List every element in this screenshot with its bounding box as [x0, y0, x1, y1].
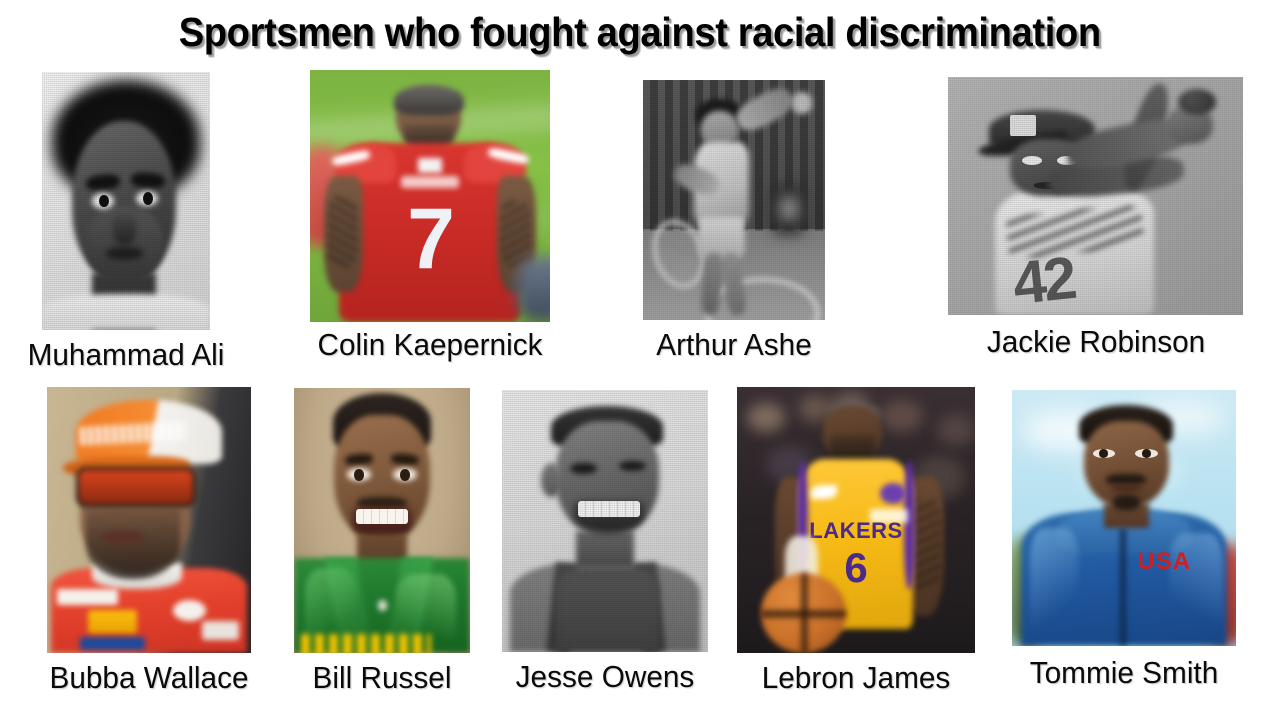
caption-arthur-ashe: Arthur Ashe [656, 328, 812, 362]
beard-shape [86, 509, 180, 578]
caption-colin-kaepernick: Colin Kaepernick [318, 328, 543, 362]
jacket-zipper [1120, 528, 1127, 646]
lebron-james-photo: LAKERS 6 [737, 387, 975, 653]
person-card-jackie-robinson: 42 Jackie Robinson [948, 77, 1243, 377]
film-grain-overlay [643, 80, 825, 320]
jacket-button [378, 600, 387, 611]
sunglasses [76, 467, 196, 508]
jesse-owens-photo [502, 390, 708, 652]
sponsor-patch-leidos [80, 637, 145, 650]
moustache-shape [1106, 474, 1146, 484]
bubba-wallace-photo [47, 387, 251, 653]
jackie-robinson-photo: 42 [948, 77, 1243, 315]
bill-russel-photo [294, 388, 470, 653]
sponsor-patch-side [202, 621, 239, 640]
usa-badge: USA [1137, 549, 1213, 575]
person-card-lebron-james: LAKERS 6 Lebron James [737, 387, 975, 707]
teeth-shape [356, 509, 409, 525]
caption-lebron-james: Lebron James [762, 661, 951, 695]
left-pupil [1099, 449, 1108, 457]
caption-jackie-robinson: Jackie Robinson [986, 325, 1204, 359]
person-card-bubba-wallace: Bubba Wallace [47, 387, 251, 707]
right-pupil [400, 469, 411, 481]
team-patch [880, 483, 906, 504]
film-grain-overlay [42, 72, 210, 330]
jacket-highlight-left [1030, 528, 1079, 641]
caption-bubba-wallace: Bubba Wallace [49, 661, 248, 695]
caption-tommie-smith: Tommie Smith [1030, 656, 1219, 690]
helmet-shape [516, 256, 550, 322]
caption-jesse-owens: Jesse Owens [516, 660, 695, 694]
person-card-bill-russel: Bill Russel [294, 388, 470, 708]
caption-muhammad-ali: Muhammad Ali [28, 338, 225, 372]
person-card-muhammad-ali: Muhammad Ali [42, 72, 210, 372]
crowd-bokeh [880, 400, 923, 432]
mouth-shape [102, 531, 143, 544]
sponsor-patch-columbia [57, 589, 118, 605]
person-card-tommie-smith: USA Tommie Smith [1012, 390, 1236, 710]
jersey-number: 7 [310, 196, 550, 282]
person-card-jesse-owens: Jesse Owens [502, 390, 708, 710]
team-wordmark-patch [401, 176, 459, 189]
left-pupil [354, 469, 365, 481]
film-grain-overlay [948, 77, 1243, 315]
goatee-shape [1113, 495, 1140, 510]
nfl-logo-patch [418, 158, 442, 173]
colin-kaepernick-photo: 7 [310, 70, 550, 322]
sponsor-patch-mcdonalds [88, 610, 137, 634]
page-title: Sportsmen who fought against racial disc… [179, 9, 1101, 55]
slide-title-bar: Sportsmen who fought against racial disc… [0, 0, 1280, 64]
jacket-lettering [301, 634, 431, 653]
tommie-smith-photo: USA [1012, 390, 1236, 646]
caption-bill-russel: Bill Russel [313, 661, 452, 695]
team-wordmark: LAKERS [799, 520, 913, 542]
person-card-colin-kaepernick: 7 Colin Kaepernick [310, 70, 550, 370]
right-pupil [1142, 449, 1151, 457]
film-grain-overlay [502, 390, 708, 652]
crowd-bokeh [937, 414, 975, 446]
person-card-arthur-ashe: Arthur Ashe [643, 80, 825, 380]
mouth-shape [1111, 485, 1142, 493]
nike-swoosh-icon [811, 485, 837, 498]
arthur-ashe-photo [643, 80, 825, 320]
hair-shape [394, 85, 464, 115]
basketball-seam-vertical [801, 573, 808, 653]
muhammad-ali-photo [42, 72, 210, 330]
sponsor-patch-round [173, 600, 206, 621]
crowd-bokeh [747, 403, 785, 432]
